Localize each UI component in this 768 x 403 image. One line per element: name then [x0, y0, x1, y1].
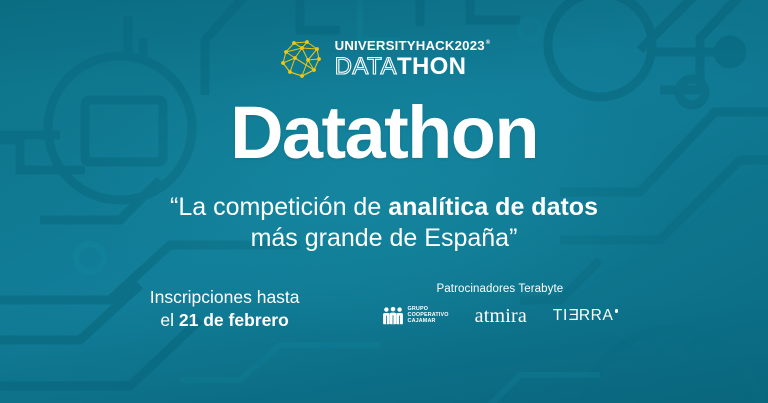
tagline-line1-highlight: analítica de datos: [388, 193, 598, 221]
sponsors-label: Patrocinadores Terabyte: [382, 283, 619, 295]
tierra-flipped-e: E: [568, 308, 579, 324]
group-people-icon: [382, 307, 404, 325]
logo-wordmark: UNIVERSITYHACK2023 ® DATA THON: [335, 39, 491, 78]
poster-content: UNIVERSITYHACK2023 ® DATA THON Datathon …: [0, 0, 768, 403]
registered-mark: ®: [486, 40, 491, 46]
tagline: “La competición de analítica de datos má…: [170, 192, 598, 253]
logo-data-part: DATA: [335, 55, 397, 79]
tagline-line1-prefix: “La competición de: [170, 193, 388, 221]
sponsor-logo-list: GRUPO COOPERATIVO CAJAMAR atmira TIERRA: [382, 304, 619, 328]
deadline-line2-prefix: el: [160, 310, 178, 330]
deadline-line1: Inscripciones hasta: [150, 287, 300, 307]
logo-line1-label: UNIVERSITYHACK2023: [335, 39, 485, 52]
sponsor-logo-cajamar[interactable]: GRUPO COOPERATIVO CAJAMAR: [382, 307, 449, 325]
tierra-prefix: TI: [553, 308, 568, 324]
page-title: Datathon: [230, 96, 538, 170]
tierra-dot-mark: [615, 309, 618, 312]
tierra-suffix: RRA: [579, 308, 614, 324]
registration-deadline: Inscripciones hasta el 21 de febrero: [150, 283, 300, 332]
poster-footer: Inscripciones hasta el 21 de febrero Pat…: [0, 283, 768, 332]
cajamar-wordmark: GRUPO COOPERATIVO CAJAMAR: [408, 307, 449, 324]
event-logo: UNIVERSITYHACK2023 ® DATA THON: [278, 36, 491, 82]
datathon-poster: UNIVERSITYHACK2023 ® DATA THON Datathon …: [0, 0, 768, 403]
sponsor-logo-tierra[interactable]: TIERRA: [553, 308, 618, 324]
deadline-date: 21 de febrero: [179, 310, 289, 330]
sponsors-section: Patrocinadores Terabyte: [382, 283, 619, 328]
logo-universityhack-text: UNIVERSITYHACK2023 ®: [335, 39, 491, 52]
sponsor-logo-atmira[interactable]: atmira: [475, 306, 527, 326]
cajamar-line3: CAJAMAR: [408, 319, 449, 325]
tagline-line2: más grande de España”: [251, 224, 518, 252]
brain-network-icon: [278, 38, 324, 80]
logo-thon-part: THON: [397, 55, 466, 79]
logo-datathon-text: DATA THON: [335, 55, 491, 79]
